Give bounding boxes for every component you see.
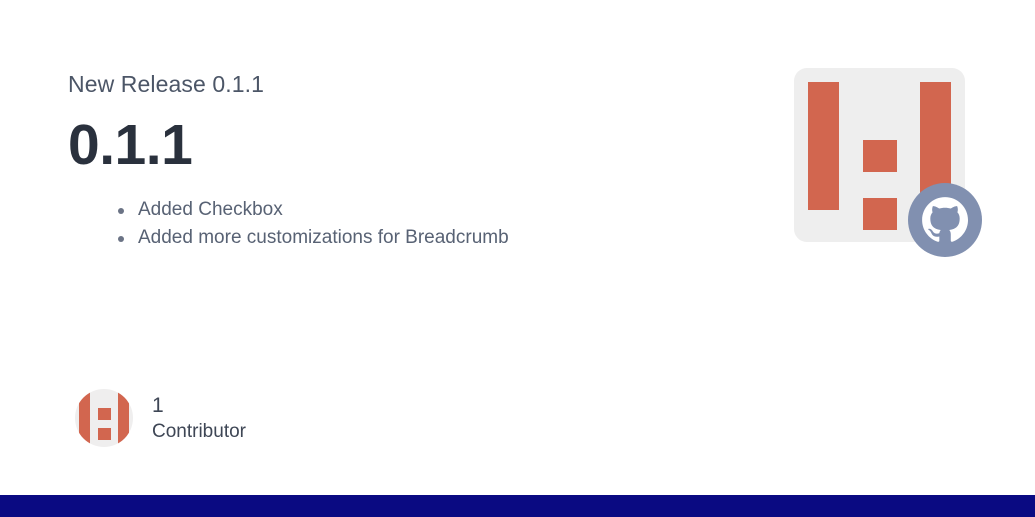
release-info-block: New Release 0.1.1 0.1.1 Added Checkbox A… <box>68 68 728 252</box>
logo-bar-left <box>808 82 839 210</box>
avatar-bar-right <box>118 389 129 447</box>
contributors-section: 1 Contributor <box>75 389 246 447</box>
release-page: New Release 0.1.1 0.1.1 Added Checkbox A… <box>0 0 1035 517</box>
changelog-item: Added Checkbox <box>68 196 728 224</box>
contributor-avatar-icon[interactable] <box>75 389 133 447</box>
contributor-count: 1 <box>152 392 246 419</box>
changelog-item: Added more customizations for Breadcrumb <box>68 224 728 252</box>
release-version-heading: 0.1.1 <box>68 114 728 176</box>
bullet-dot-icon <box>118 236 124 242</box>
release-eyebrow-label: New Release 0.1.1 <box>68 68 728 100</box>
avatar-bar-left <box>79 389 90 447</box>
bottom-status-bar <box>0 495 1035 517</box>
avatar-square-top <box>98 408 111 420</box>
logo-square-top <box>863 140 897 172</box>
changelog-list: Added Checkbox Added more customizations… <box>68 196 728 252</box>
bullet-dot-icon <box>118 208 124 214</box>
contributor-text-group: 1 Contributor <box>152 392 246 445</box>
logo-square-bottom <box>863 198 897 230</box>
changelog-item-text: Added Checkbox <box>138 199 283 220</box>
contributor-label: Contributor <box>152 419 246 445</box>
changelog-item-text: Added more customizations for Breadcrumb <box>138 227 509 248</box>
avatar-square-bottom <box>98 428 111 440</box>
github-octocat-icon <box>908 183 982 257</box>
